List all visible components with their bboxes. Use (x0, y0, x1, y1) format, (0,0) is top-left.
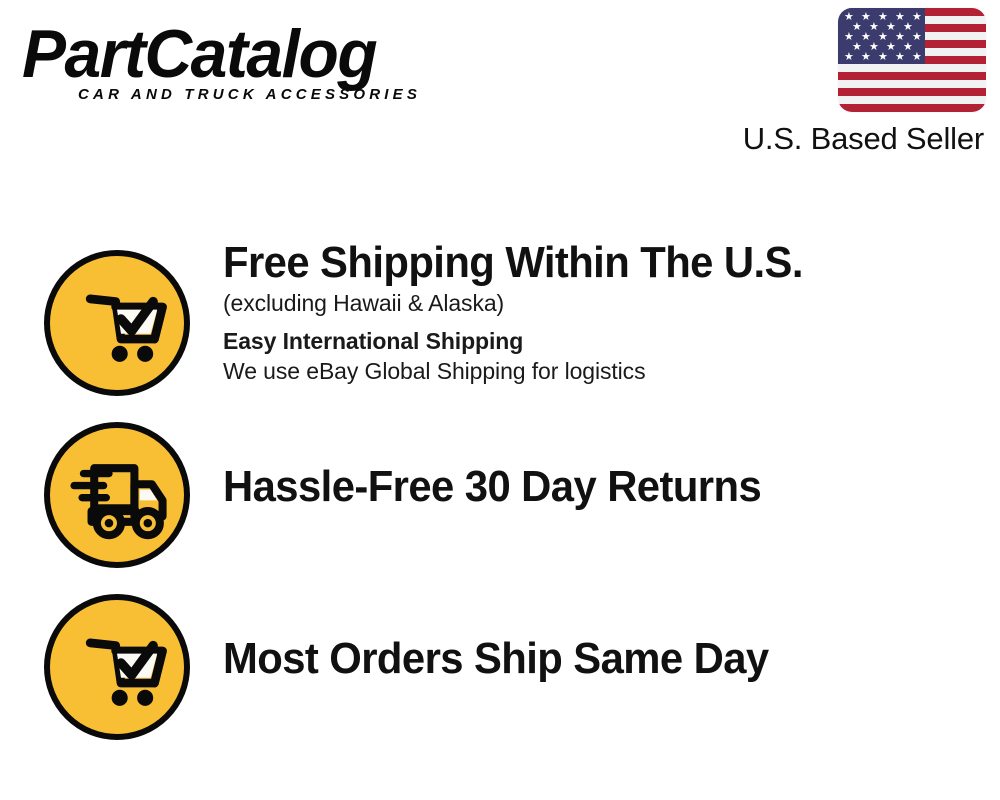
feature-subline-exclusion: (excluding Hawaii & Alaska) (223, 288, 983, 318)
brand-logo[interactable]: PartCatalog CAR AND TRUCK ACCESSORIES (22, 18, 492, 118)
us-flag-icon: ★ ★ ★ ★ ★ ★ ★ ★ ★ ★ ★ ★ ★ ★ ★ ★ ★ ★ ★ ★ … (838, 8, 986, 112)
feature-text-block: Hassle-Free 30 Day Returns (223, 462, 983, 512)
feature-subline-international-detail: We use eBay Global Shipping for logistic… (223, 356, 983, 386)
us-based-seller-badge: ★ ★ ★ ★ ★ ★ ★ ★ ★ ★ ★ ★ ★ ★ ★ ★ ★ ★ ★ ★ … (716, 8, 986, 157)
flag-canton-icon: ★ ★ ★ ★ ★ ★ ★ ★ ★ ★ ★ ★ ★ ★ ★ ★ ★ ★ ★ ★ … (838, 8, 925, 64)
brand-wordmark: PartCatalog (22, 18, 478, 90)
feature-text-block: Most Orders Ship Same Day (223, 634, 983, 684)
delivery-truck-icon (44, 422, 190, 568)
feature-subline-international-title: Easy International Shipping (223, 326, 983, 356)
us-based-seller-label: U.S. Based Seller (716, 121, 984, 157)
feature-headline: Most Orders Ship Same Day (223, 634, 945, 684)
feature-headline: Free Shipping Within The U.S. (223, 238, 945, 288)
feature-headline: Hassle-Free 30 Day Returns (223, 462, 945, 512)
shopping-cart-check-icon (44, 594, 190, 740)
shopping-cart-check-icon (44, 250, 190, 396)
feature-text-block: Free Shipping Within The U.S. (excluding… (223, 238, 983, 386)
